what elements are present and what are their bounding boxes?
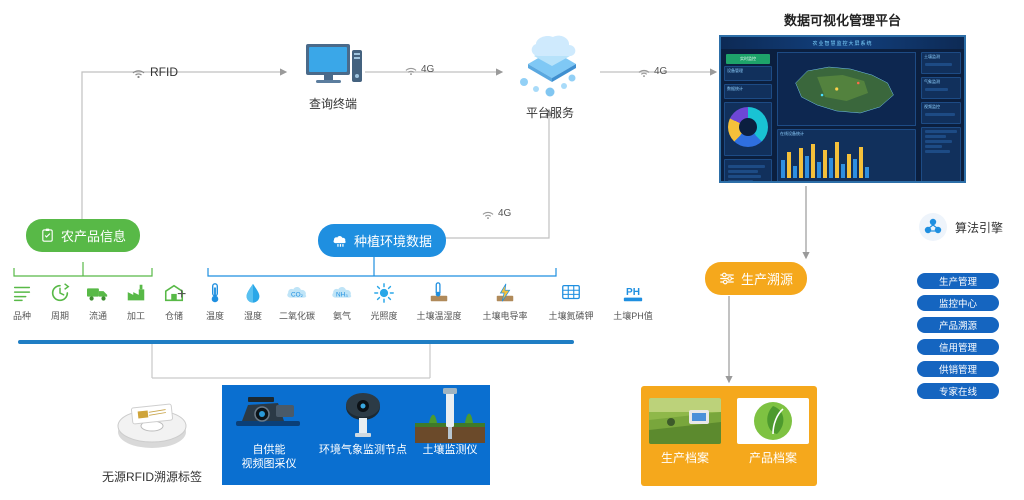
dashboard-menu-item-0[interactable]: 实时监控 xyxy=(726,54,770,64)
dashboard-menu-item-2: 数据统计 xyxy=(725,85,771,93)
archive-right-label: 产品档案 xyxy=(737,449,809,466)
dashboard-screenshot[interactable]: 农业智慧监控大屏系统 实时监控 设备管理 数据统计 xyxy=(719,35,966,183)
factory-icon xyxy=(125,282,147,304)
trace-label: 生产溯源 xyxy=(741,269,793,288)
cloud-data-icon xyxy=(332,233,348,248)
dashboard-donut-card xyxy=(724,102,772,156)
archive-left[interactable]: 生产档案 xyxy=(649,398,721,466)
device-1-line1: 自供能 xyxy=(222,443,316,457)
divider-bar xyxy=(18,340,574,344)
env-item-0[interactable]: 温度 xyxy=(200,282,230,322)
donut-chart xyxy=(728,107,768,147)
network-4g-1-label: 4G xyxy=(421,64,434,75)
archive-left-label: 生产档案 xyxy=(649,449,721,466)
env-item-2-label: 二氧化碳 xyxy=(276,309,318,322)
env-item-1-label: 湿度 xyxy=(238,309,268,322)
product-item-0-label: 品种 xyxy=(8,309,36,322)
sun-icon xyxy=(373,282,395,304)
env-item-0-label: 温度 xyxy=(200,309,230,322)
thermometer-icon xyxy=(205,282,225,304)
dashboard-stat-label: 在线设备统计 xyxy=(778,130,915,138)
right-button-0[interactable]: 生产管理 xyxy=(917,273,999,289)
network-4g-3-label: 4G xyxy=(498,208,511,219)
product-item-2-label: 流通 xyxy=(84,309,112,322)
dashboard-misc-card xyxy=(921,127,961,183)
env-item-1[interactable]: 湿度 xyxy=(238,282,268,322)
dashboard-map-panel: 在线设备统计 xyxy=(775,49,918,183)
archive-right[interactable]: 产品档案 xyxy=(737,398,809,466)
algorithm-engine-icon xyxy=(918,212,948,242)
clipboard-icon xyxy=(40,228,55,243)
dashboard-menu-item-1: 设备管理 xyxy=(725,67,771,75)
right-button-4[interactable]: 供销管理 xyxy=(917,361,999,377)
device-card-1[interactable]: 自供能 视频图采仪 xyxy=(222,385,316,485)
device-0-label: 无源RFID溯源标签 xyxy=(102,470,202,484)
dashboard-header-title: 农业智慧监控大屏系统 xyxy=(812,40,872,47)
env-item-2[interactable]: CO₂ 二氧化碳 xyxy=(276,282,318,322)
product-info-pill[interactable]: 农产品信息 xyxy=(26,219,140,252)
env-item-4-label: 光照度 xyxy=(366,309,402,322)
dashboard-menu-item-1-card[interactable]: 设备管理 xyxy=(724,66,772,81)
algorithm-engine-label: 算法引擎 xyxy=(955,219,1003,236)
trace-pill[interactable]: 生产溯源 xyxy=(705,262,807,295)
env-item-7-label: 土壤氮磷钾 xyxy=(542,309,600,322)
filter-settings-icon xyxy=(719,271,735,286)
env-items: 温度 湿度 CO₂ 二氧化碳 NH₃ 氨气 xyxy=(200,282,658,322)
dashboard-list-card xyxy=(724,159,772,183)
dashboard-menu-item-2-card[interactable]: 数据统计 xyxy=(724,84,772,99)
cloud-server-icon xyxy=(500,32,600,104)
env-item-6-label: 土壤电导率 xyxy=(476,309,534,322)
truck-icon xyxy=(86,282,110,304)
soil-temp-icon xyxy=(428,282,450,304)
env-data-pill[interactable]: 种植环境数据 xyxy=(318,224,446,257)
algorithm-engine-node: 算法引擎 xyxy=(918,212,1003,242)
soil-monitor-icon xyxy=(415,387,485,443)
dashboard-tag-1: 气象监测 xyxy=(922,78,960,86)
network-4g-1: 4G xyxy=(405,64,434,75)
co2-cloud-icon: CO₂ xyxy=(285,282,309,304)
video-collector-icon xyxy=(232,391,306,437)
product-item-2[interactable]: 流通 xyxy=(84,282,112,322)
svg-text:NH₃: NH₃ xyxy=(336,292,348,299)
weather-node-icon xyxy=(333,389,393,439)
wifi-icon xyxy=(482,208,494,219)
bar-chart xyxy=(778,138,915,180)
network-4g-3: 4G xyxy=(482,208,511,219)
ph-icon: PH xyxy=(620,282,646,304)
wifi-icon xyxy=(638,66,650,77)
env-item-4[interactable]: 光照度 xyxy=(366,282,402,322)
product-item-0[interactable]: 品种 xyxy=(8,282,36,322)
dashboard-tag-2: 视频监控 xyxy=(922,103,960,111)
wifi-icon xyxy=(132,66,145,78)
wifi-icon xyxy=(405,64,417,75)
dashboard-tag-2-card[interactable]: 视频监控 xyxy=(921,102,961,124)
device-2-line1: 环境气象监测节点 xyxy=(316,443,410,457)
svg-text:CO₂: CO₂ xyxy=(291,292,304,299)
desktop-computer-icon xyxy=(298,42,366,94)
clock-icon xyxy=(49,282,71,304)
env-item-7[interactable]: 土壤氮磷钾 xyxy=(542,282,600,322)
plus-sign: + xyxy=(177,286,186,304)
dashboard-header: 农业智慧监控大屏系统 xyxy=(721,37,964,49)
dashboard-tag-1-card[interactable]: 气象监测 xyxy=(921,77,961,99)
product-archive-photo xyxy=(737,398,809,444)
product-item-4-label: 仓储 xyxy=(160,309,188,322)
svg-text:PH: PH xyxy=(626,287,640,298)
product-item-1-label: 周期 xyxy=(46,309,74,322)
query-terminal-node xyxy=(298,42,366,99)
product-info-label: 农产品信息 xyxy=(61,226,126,245)
product-items: 品种 周期 流通 加工 xyxy=(8,282,188,322)
dashboard-bar-chart-card: 在线设备统计 xyxy=(777,129,916,183)
platform-service-node xyxy=(500,32,600,109)
right-button-list: 生产管理 监控中心 产品溯源 信用管理 供销管理 专家在线 xyxy=(917,273,999,405)
right-button-2[interactable]: 产品溯源 xyxy=(917,317,999,333)
archive-box: 生产档案 产品档案 xyxy=(641,386,817,486)
env-item-5[interactable]: 土壤温湿度 xyxy=(410,282,468,322)
dashboard-title: 数据可视化管理平台 xyxy=(784,13,901,28)
device-3-line1: 土壤监测仪 xyxy=(410,443,490,457)
dashboard-left-panel: 实时监控 设备管理 数据统计 xyxy=(721,49,775,183)
query-terminal-label: 查询终端 xyxy=(309,97,357,111)
product-item-1[interactable]: 周期 xyxy=(46,282,74,322)
env-item-3[interactable]: NH₃ 氨气 xyxy=(326,282,358,322)
env-item-6[interactable]: 土壤电导率 xyxy=(476,282,534,322)
right-button-1[interactable]: 监控中心 xyxy=(917,295,999,311)
right-button-5[interactable]: 专家在线 xyxy=(917,383,999,399)
product-item-3[interactable]: 加工 xyxy=(122,282,150,322)
env-data-label: 种植环境数据 xyxy=(354,231,432,250)
diagram-canvas: RFID 查询终端 4G xyxy=(0,0,1024,500)
npk-icon xyxy=(560,282,582,304)
dashboard-tag-0-card[interactable]: 土壤监测 xyxy=(921,52,961,74)
china-map[interactable] xyxy=(777,52,916,126)
device-card-2[interactable]: 环境气象监测节点 xyxy=(316,385,410,485)
device-card-3[interactable]: 土壤监测仪 xyxy=(410,385,490,485)
platform-service-label: 平台服务 xyxy=(526,106,574,120)
env-item-8[interactable]: PH 土壤PH值 xyxy=(608,282,658,322)
device-1-line2: 视频图采仪 xyxy=(222,457,316,471)
product-item-3-label: 加工 xyxy=(122,309,150,322)
env-item-8-label: 土壤PH值 xyxy=(608,309,658,322)
conductivity-icon xyxy=(494,282,516,304)
gas-cloud-icon: NH₃ xyxy=(330,282,354,304)
droplet-icon xyxy=(243,282,263,304)
dashboard-tag-0: 土壤监测 xyxy=(922,53,960,61)
rfid-tag-photo xyxy=(108,392,196,458)
right-button-3[interactable]: 信用管理 xyxy=(917,339,999,355)
dashboard-right-panel: 土壤监测 气象监测 视频监控 xyxy=(918,49,964,183)
production-archive-photo xyxy=(649,398,721,444)
rfid-link-label: RFID xyxy=(132,65,178,79)
list-icon xyxy=(11,282,33,304)
env-item-3-label: 氨气 xyxy=(326,309,358,322)
network-4g-2: 4G xyxy=(638,66,667,77)
rfid-label: RFID xyxy=(150,65,178,79)
network-4g-2-label: 4G xyxy=(654,66,667,77)
env-item-5-label: 土壤温湿度 xyxy=(410,309,468,322)
